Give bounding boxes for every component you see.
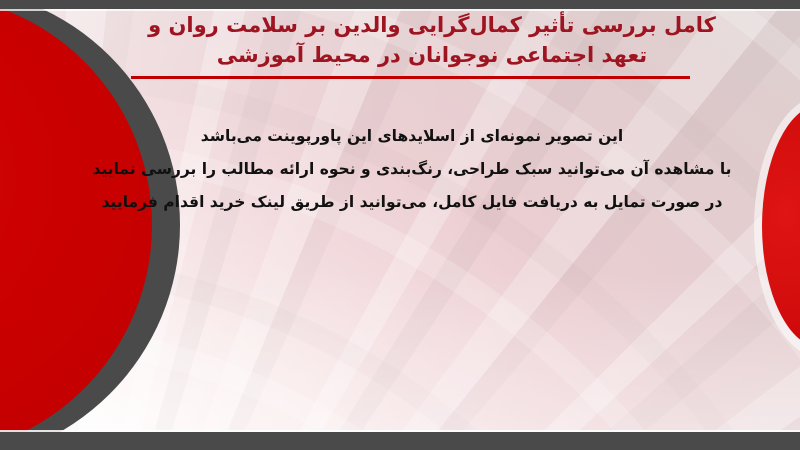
title-line-2: تعهد اجتماعی نوجوانان در محیط آموزشی [82,40,782,70]
gray-band-bottom [0,432,800,450]
presentation-slide: کامل بررسی تأثیر کمال‌گرایی والدین بر سل… [0,0,800,450]
title-line-1: کامل بررسی تأثیر کمال‌گرایی والدین بر سل… [82,10,782,40]
body-line-1: این تصویر نمونه‌ای از اسلایدهای این پاور… [54,120,770,153]
gray-band-top [0,0,800,9]
slide-title: کامل بررسی تأثیر کمال‌گرایی والدین بر سل… [82,10,782,70]
body-line-2: با مشاهده آن می‌توانید سبک طراحی، رنگ‌بن… [54,153,770,186]
body-line-3: در صورت تمایل به دریافت فایل کامل، می‌تو… [54,186,770,219]
slide-body: این تصویر نمونه‌ای از اسلایدهای این پاور… [54,120,770,219]
title-underline-rule [131,76,690,79]
